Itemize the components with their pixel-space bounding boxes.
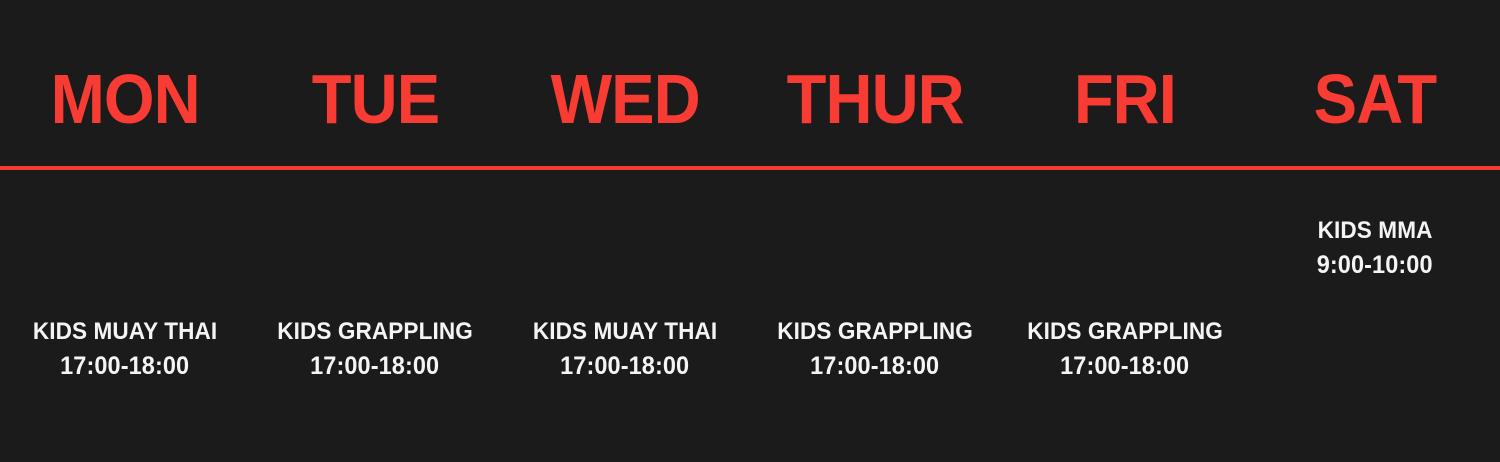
class-name: KIDS GRAPPLING	[1027, 315, 1223, 349]
class-name: KIDS GRAPPLING	[277, 315, 473, 349]
day-header-label: THUR	[786, 66, 963, 133]
class-time: 17:00-18:00	[1060, 349, 1189, 383]
day-header-thur[interactable]: THUR	[750, 0, 1000, 166]
class-name: KIDS MMA	[1318, 214, 1433, 248]
schedule-body: KIDS MMA 9:00-10:00 KIDS MUAY THAI 17:00…	[0, 170, 1500, 462]
day-header-label: SAT	[1314, 66, 1437, 133]
weekly-class-schedule: MON TUE WED THUR FRI SAT	[0, 0, 1500, 462]
class-name: KIDS MUAY THAI	[33, 315, 217, 349]
day-header-label: WED	[550, 66, 699, 133]
class-name: KIDS GRAPPLING	[777, 315, 973, 349]
class-slot-tue-evening[interactable]: KIDS GRAPPLING 17:00-18:00	[250, 315, 500, 383]
class-time: 17:00-18:00	[310, 349, 439, 383]
class-slot-thur-evening[interactable]: KIDS GRAPPLING 17:00-18:00	[750, 315, 1000, 383]
schedule-row-morning: KIDS MMA 9:00-10:00	[0, 214, 1500, 282]
class-time: 9:00-10:00	[1317, 248, 1433, 282]
day-header-fri[interactable]: FRI	[1000, 0, 1250, 166]
day-header-label: TUE	[311, 66, 438, 133]
day-header-wed[interactable]: WED	[500, 0, 750, 166]
class-slot-wed-evening[interactable]: KIDS MUAY THAI 17:00-18:00	[500, 315, 750, 383]
day-header-sat[interactable]: SAT	[1250, 0, 1500, 166]
class-time: 17:00-18:00	[810, 349, 939, 383]
class-time: 17:00-18:00	[560, 349, 689, 383]
day-header-mon[interactable]: MON	[0, 0, 250, 166]
class-slot-fri-evening[interactable]: KIDS GRAPPLING 17:00-18:00	[1000, 315, 1250, 383]
day-header-tue[interactable]: TUE	[250, 0, 500, 166]
day-header-label: FRI	[1074, 66, 1176, 133]
class-time: 17:00-18:00	[60, 349, 189, 383]
class-slot-mon-evening[interactable]: KIDS MUAY THAI 17:00-18:00	[0, 315, 250, 383]
day-header-label: MON	[50, 66, 199, 133]
schedule-row-evening: KIDS MUAY THAI 17:00-18:00 KIDS GRAPPLIN…	[0, 315, 1500, 383]
day-header-row: MON TUE WED THUR FRI SAT	[0, 0, 1500, 166]
class-name: KIDS MUAY THAI	[533, 315, 717, 349]
class-slot-sat-morning[interactable]: KIDS MMA 9:00-10:00	[1250, 214, 1500, 282]
